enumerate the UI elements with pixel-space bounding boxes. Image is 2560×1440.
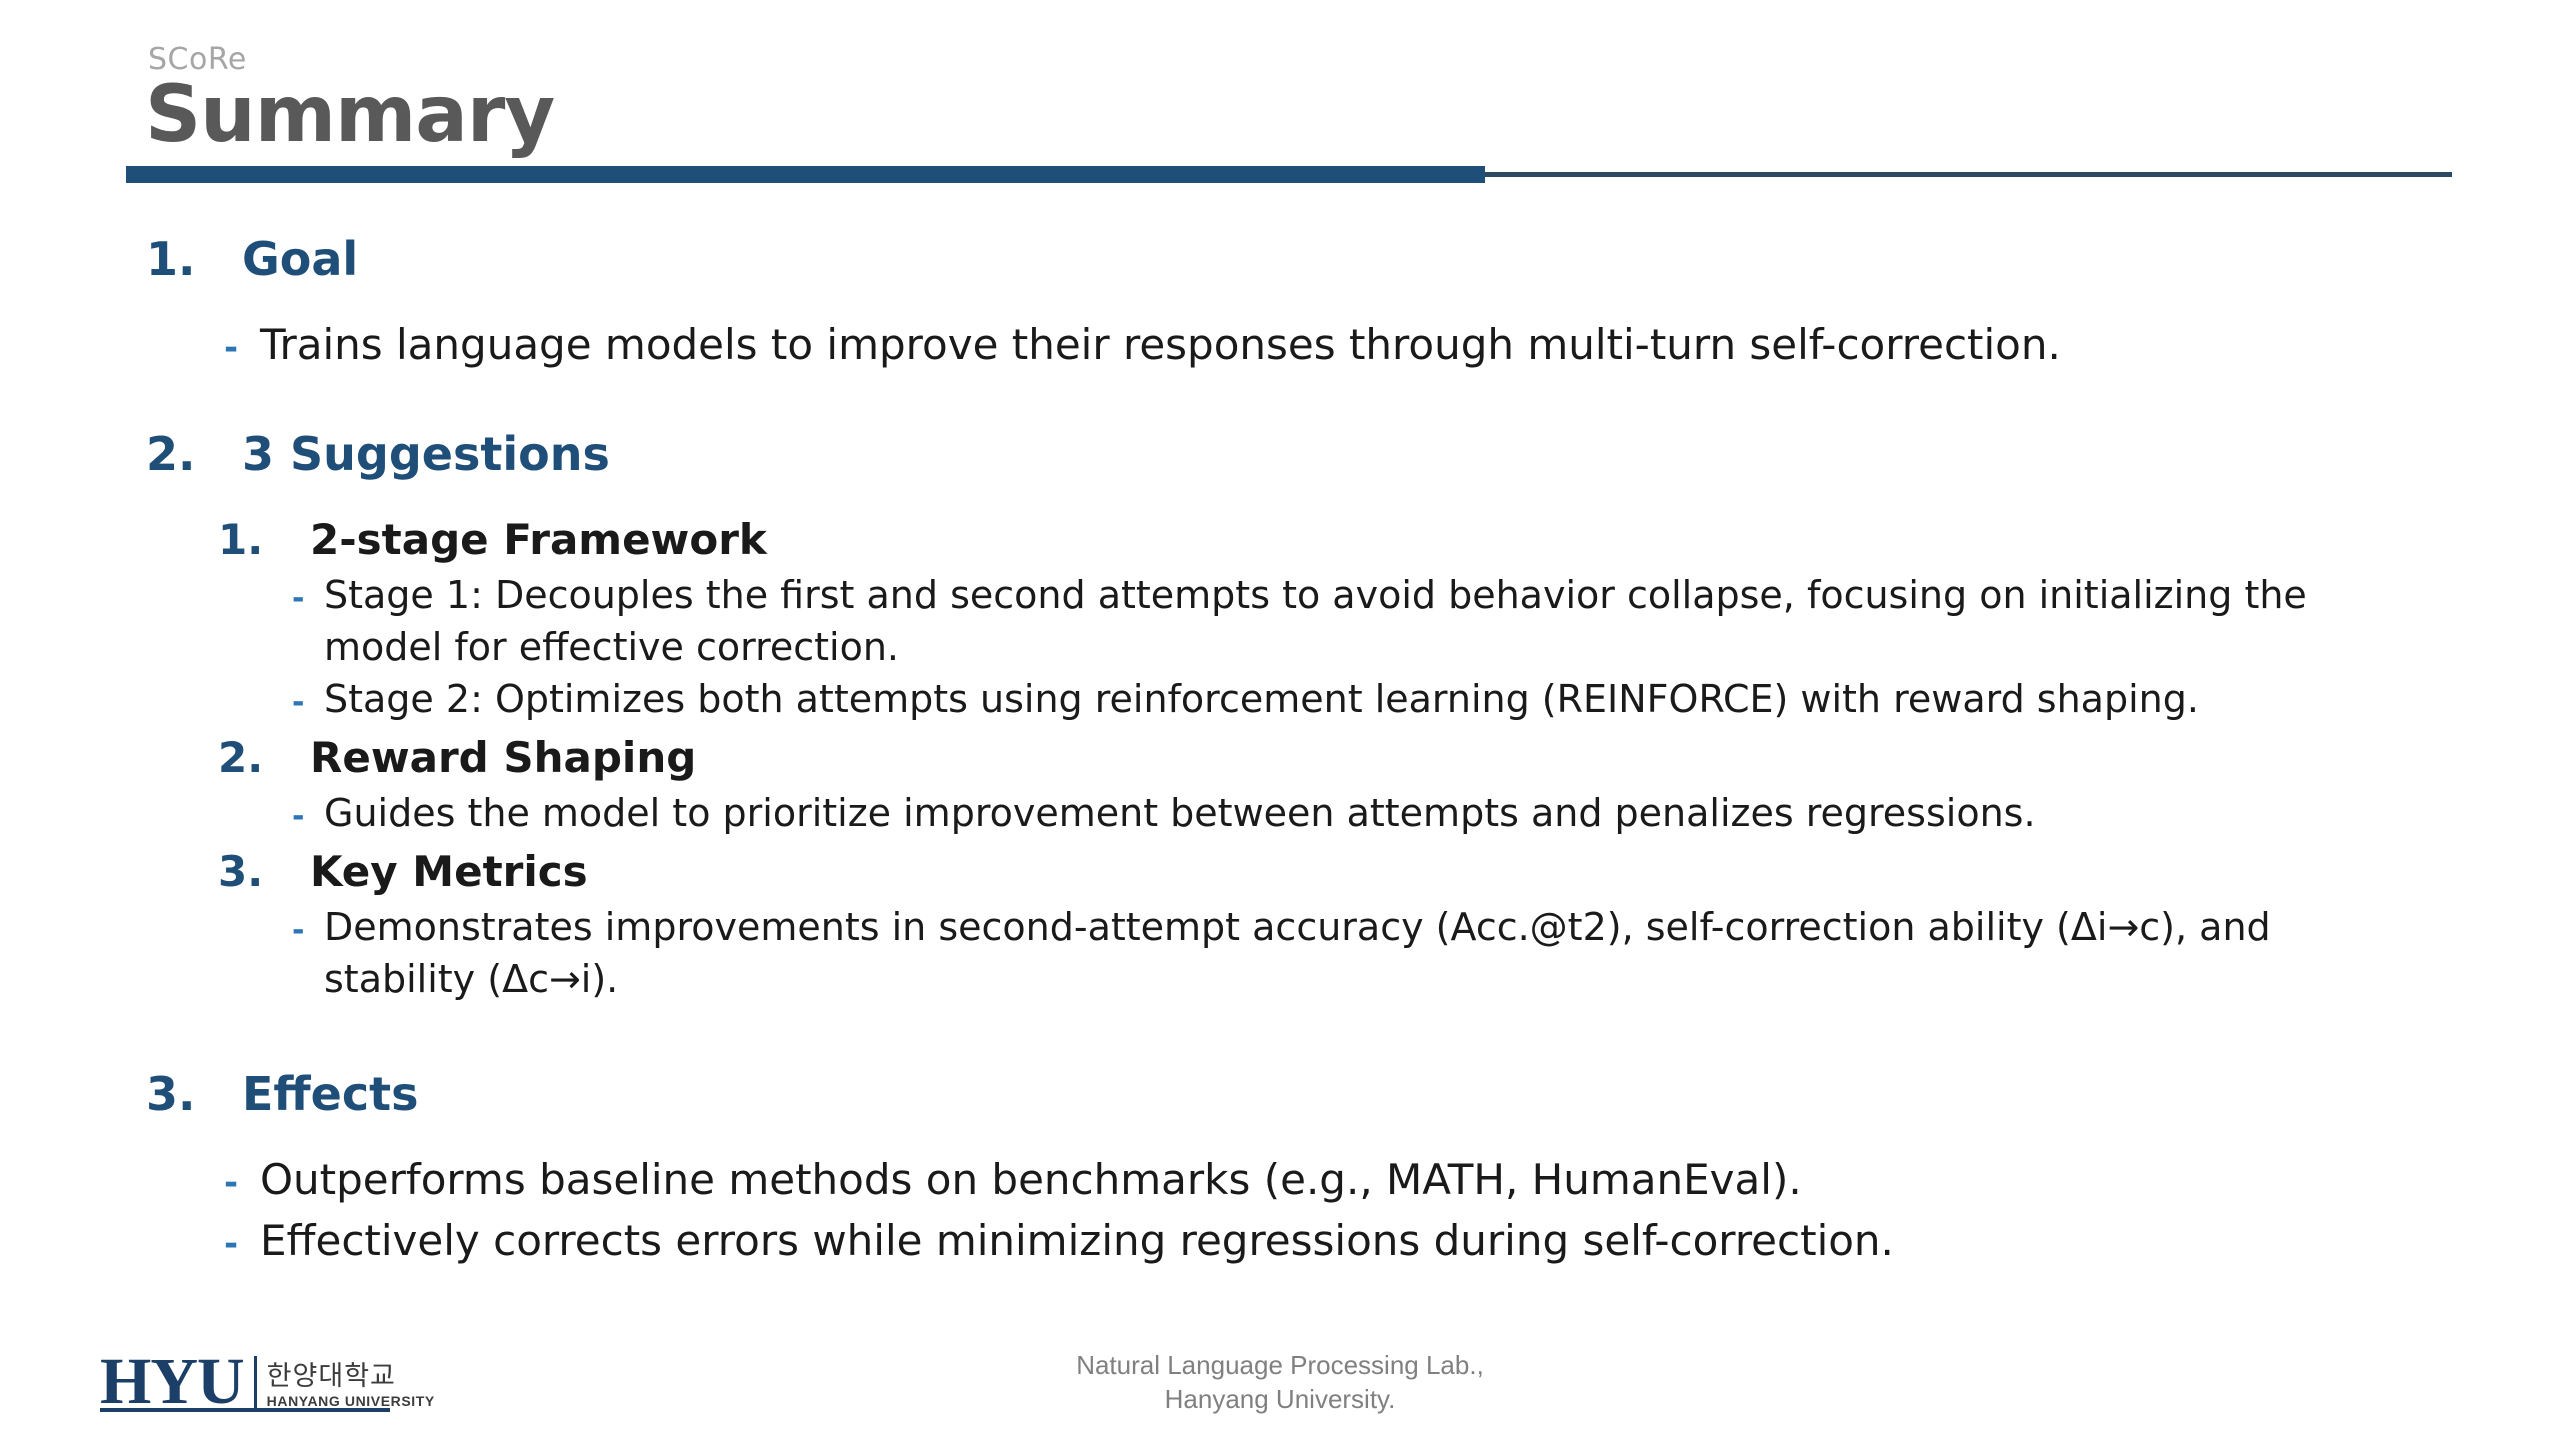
list-item: - Effectively corrects errors while mini…: [224, 1212, 2560, 1273]
section-heading-effects: 3. Effects: [146, 1063, 2560, 1125]
list-item: - Outperforms baseline methods on benchm…: [224, 1151, 2560, 1212]
bullet-dash-icon: -: [292, 791, 324, 843]
section-title: Effects: [242, 1063, 419, 1125]
list-item: - Guides the model to prioritize improve…: [292, 787, 2560, 843]
section-title: 3 Suggestions: [242, 423, 610, 485]
bullet-dash-icon: -: [224, 1154, 260, 1212]
list-item-text: Effectively corrects errors while minimi…: [260, 1212, 2440, 1270]
subsection-heading-key-metrics: 3. Key Metrics: [218, 843, 2560, 901]
spacer: [0, 485, 2560, 511]
list-item: - Demonstrates improvements in second-at…: [292, 901, 2560, 1005]
bullet-dash-icon: -: [292, 905, 324, 957]
footer-line-1: Natural Language Processing Lab.,: [0, 1348, 2560, 1382]
bullet-dash-icon: -: [292, 677, 324, 729]
section-number: 3.: [146, 1063, 242, 1125]
subsection-number: 1.: [218, 511, 310, 569]
list-item: - Stage 1: Decouples the first and secon…: [292, 569, 2560, 673]
spacer: [0, 377, 2560, 423]
list-item: - Stage 2: Optimizes both attempts using…: [292, 673, 2560, 729]
section-number: 1.: [146, 228, 242, 290]
section-heading-suggestions: 2. 3 Suggestions: [146, 423, 2560, 485]
list-item-text: Trains language models to improve their …: [260, 316, 2440, 374]
bullet-dash-icon: -: [224, 1215, 260, 1273]
list-item: - Trains language models to improve thei…: [224, 316, 2560, 377]
footer-line-2: Hanyang University.: [0, 1382, 2560, 1416]
list-item-text: Outperforms baseline methods on benchmar…: [260, 1151, 2440, 1209]
subsection-heading-reward-shaping: 2. Reward Shaping: [218, 729, 2560, 787]
bullet-dash-icon: -: [224, 319, 260, 377]
section-number: 2.: [146, 423, 242, 485]
list-item-text: Stage 2: Optimizes both attempts using r…: [324, 673, 2404, 725]
list-item-text: Stage 1: Decouples the first and second …: [324, 569, 2404, 673]
header-rule-thick: [126, 166, 1485, 183]
footer-note: Natural Language Processing Lab., Hanyan…: [0, 1348, 2560, 1416]
subsection-number: 2.: [218, 729, 310, 787]
slide-content: 1. Goal - Trains language models to impr…: [0, 228, 2560, 1273]
subsection-title: Reward Shaping: [310, 729, 696, 787]
spacer: [0, 1005, 2560, 1063]
subsection-title: 2-stage Framework: [310, 511, 767, 569]
list-item-text: Guides the model to prioritize improveme…: [324, 787, 2404, 839]
subsection-number: 3.: [218, 843, 310, 901]
section-heading-goal: 1. Goal: [146, 228, 2560, 290]
bullet-dash-icon: -: [292, 573, 324, 625]
section-title: Goal: [242, 228, 358, 290]
subsection-title: Key Metrics: [310, 843, 588, 901]
page-title: Summary: [145, 70, 554, 160]
spacer: [0, 290, 2560, 316]
subsection-heading-2-stage-framework: 1. 2-stage Framework: [218, 511, 2560, 569]
list-item-text: Demonstrates improvements in second-atte…: [324, 901, 2404, 1005]
spacer: [0, 1125, 2560, 1151]
